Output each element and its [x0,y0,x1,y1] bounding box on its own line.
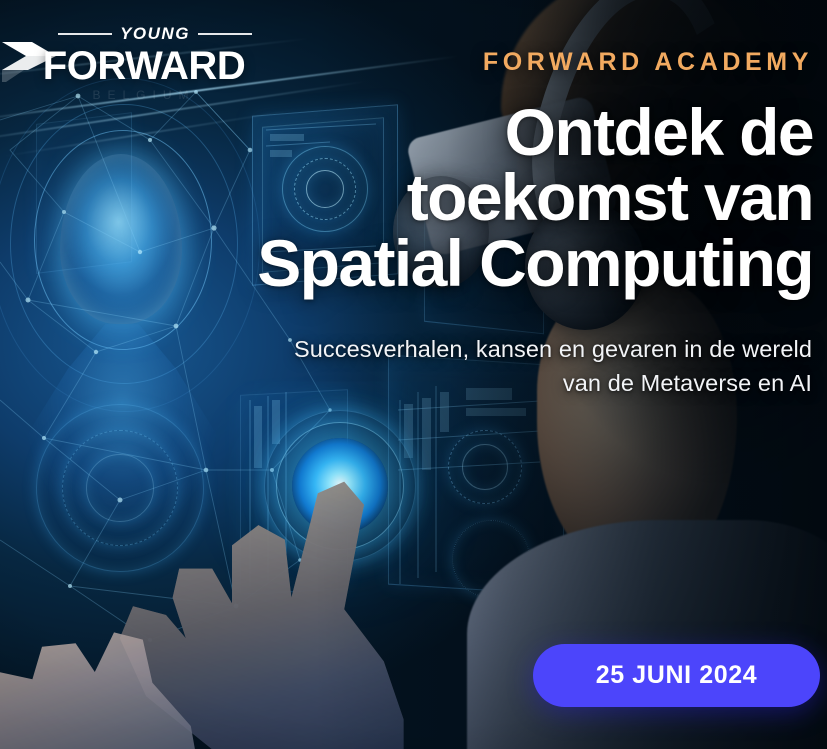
subtitle-line-1: Succesverhalen, kansen en gevaren in de … [172,333,812,367]
logo-young-row: YOUNG [58,24,252,44]
logo-forward-text: FORWARD [36,46,252,86]
subtitle: Succesverhalen, kansen en gevaren in de … [172,333,812,400]
banner-content: YOUNG FORWARD BELGIUM FORWARD ACADEMY On… [0,0,827,749]
headline-line-1: Ontdek de [113,100,813,165]
event-date-button[interactable]: 25 JUNI 2024 [533,644,820,707]
headline-line-3: Spatial Computing [113,231,813,296]
logo-rule-left [58,33,112,35]
brand-logo[interactable]: YOUNG FORWARD BELGIUM [0,24,252,96]
eyebrow-label: FORWARD ACADEMY [483,48,813,77]
logo-young-text: YOUNG [120,24,190,44]
logo-rule-right [198,33,252,35]
promo-banner: YOUNG FORWARD BELGIUM FORWARD ACADEMY On… [0,0,827,749]
page-title: Ontdek de toekomst van Spatial Computing [113,100,813,296]
subtitle-line-2: van de Metaverse en AI [172,367,812,401]
event-date-label: 25 JUNI 2024 [596,661,757,690]
logo-wordmark: YOUNG FORWARD BELGIUM [36,24,252,102]
headline-line-2: toekomst van [113,165,813,230]
